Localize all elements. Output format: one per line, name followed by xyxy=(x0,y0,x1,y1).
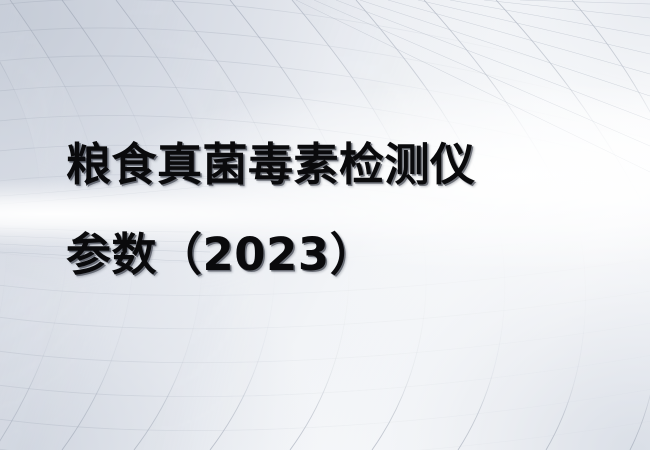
title-line-primary: 粮食真菌毒素检测仪 xyxy=(66,136,626,194)
title-line-secondary: 参数（2023） xyxy=(66,226,626,284)
banner-title: 粮食真菌毒素检测仪 参数（2023） xyxy=(66,136,626,284)
title-banner: 粮食真菌毒素检测仪 参数（2023） xyxy=(0,0,650,450)
